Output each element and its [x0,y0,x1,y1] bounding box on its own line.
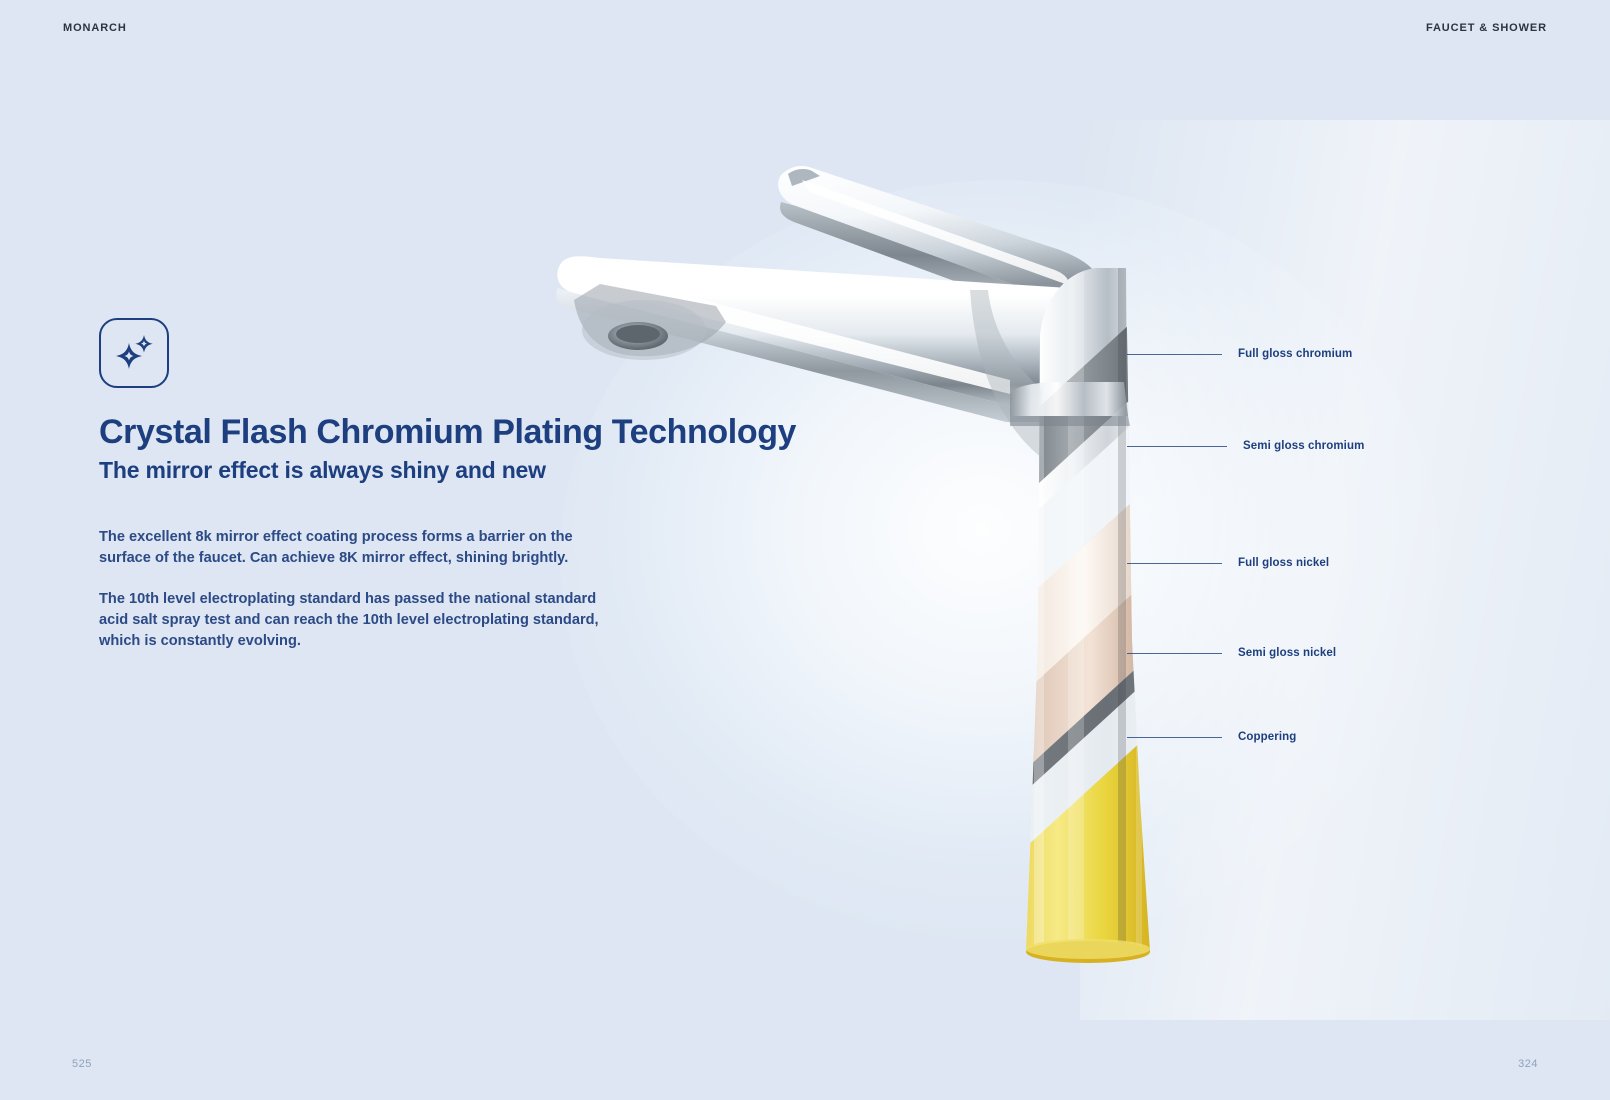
callout-full-gloss-nickel: Full gloss nickel [1127,556,1329,570]
callout-semi-gloss-chromium: Semi gloss chromium [1127,439,1364,453]
body-copy: The excellent 8k mirror effect coating p… [99,527,719,652]
callout-label: Semi gloss nickel [1238,647,1336,659]
page-number-right: 324 [1518,1058,1538,1070]
leader-line [1127,563,1222,564]
leader-line [1127,354,1222,355]
paragraph-1: The excellent 8k mirror effect coating p… [99,527,619,568]
leader-line [1127,653,1222,654]
paragraph-2: The 10th level electroplating standard h… [99,589,619,651]
leader-line [1127,446,1227,447]
callout-label: Coppering [1238,731,1296,743]
leader-line [1127,737,1222,738]
callout-coppering: Coppering [1127,730,1296,744]
running-head-section: FAUCET & SHOWER [1426,22,1547,34]
page-title: Crystal Flash Chromium Plating Technolog… [99,414,719,450]
callout-label: Full gloss chromium [1238,348,1352,360]
feature-block: Crystal Flash Chromium Plating Technolog… [99,318,719,652]
catalog-page: MONARCH FAUCET & SHOWER [0,0,1610,1100]
callout-semi-gloss-nickel: Semi gloss nickel [1127,646,1336,660]
callout-full-gloss-chromium: Full gloss chromium [1127,347,1352,361]
running-head-brand: MONARCH [63,22,127,34]
callout-label: Semi gloss chromium [1243,440,1364,452]
feature-icon-badge [99,318,169,388]
callout-label: Full gloss nickel [1238,557,1329,569]
sparkle-icon [114,333,154,373]
page-subtitle: The mirror effect is always shiny and ne… [99,457,719,484]
page-number-left: 525 [72,1058,92,1070]
